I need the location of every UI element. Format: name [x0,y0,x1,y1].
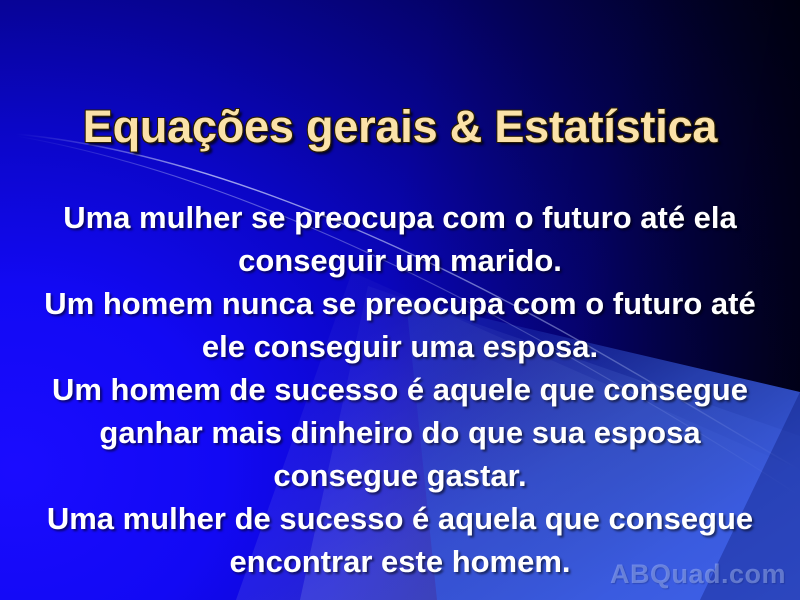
presentation-slide: Equações gerais & Estatística Uma mulher… [0,0,800,600]
body-line: Um homem nunca se preocupa com o futuro … [0,282,800,325]
slide-title: Equações gerais & Estatística [0,101,800,153]
watermark: ABQuad.com [610,559,786,590]
slide-content: Equações gerais & Estatística Uma mulher… [0,0,800,600]
body-line: consegue gastar. [0,454,800,497]
body-line: Uma mulher se preocupa com o futuro até … [0,196,800,239]
body-line: Uma mulher de sucesso é aquela que conse… [0,497,800,540]
body-line: ele conseguir uma esposa. [0,325,800,368]
body-line: ganhar mais dinheiro do que sua esposa [0,411,800,454]
body-line: Um homem de sucesso é aquele que consegu… [0,368,800,411]
body-line: conseguir um marido. [0,239,800,282]
slide-body: Uma mulher se preocupa com o futuro até … [0,196,800,583]
